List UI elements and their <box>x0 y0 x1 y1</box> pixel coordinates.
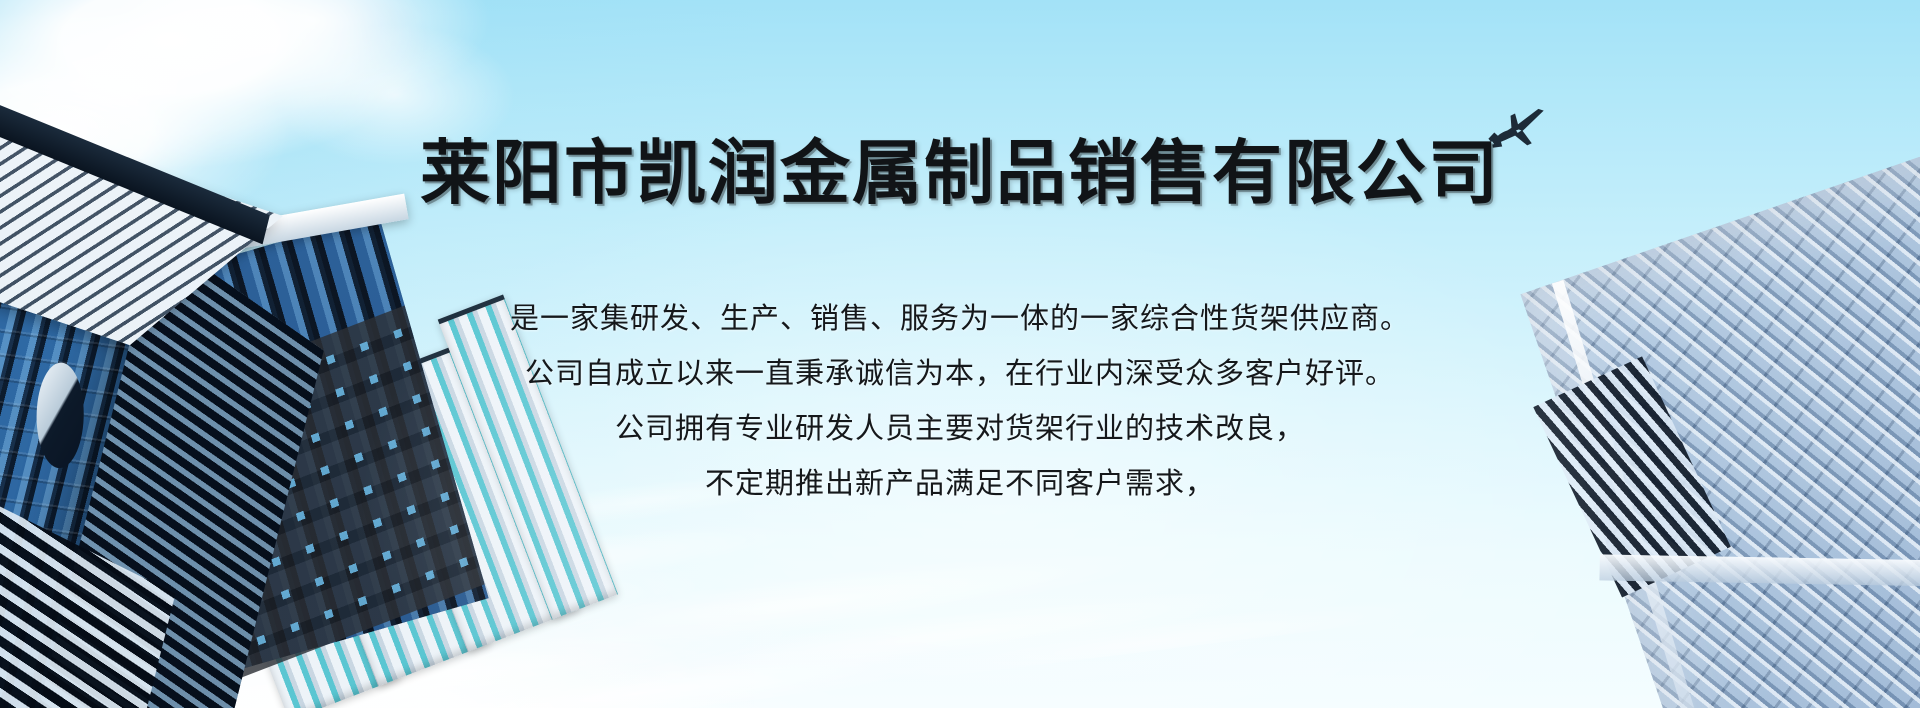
banner-content: 莱阳市凯润金属制品销售有限公司 是一家集研发、生产、销售、服务为一体的一家综合性… <box>0 0 1920 708</box>
company-name-heading: 莱阳市凯润金属制品销售有限公司 <box>420 138 1500 208</box>
description-line: 是一家集研发、生产、销售、服务为一体的一家综合性货架供应商。 <box>510 299 1410 340</box>
hero-banner: 莱阳市凯润金属制品销售有限公司 是一家集研发、生产、销售、服务为一体的一家综合性… <box>0 0 1920 708</box>
description-line: 公司拥有专业研发人员主要对货架行业的技术改良， <box>510 409 1410 450</box>
company-description: 是一家集研发、生产、销售、服务为一体的一家综合性货架供应商。 公司自成立以来一直… <box>510 299 1410 506</box>
description-line: 不定期推出新产品满足不同客户需求， <box>510 464 1410 505</box>
description-line: 公司自成立以来一直秉承诚信为本，在行业内深受众多客户好评。 <box>510 354 1410 395</box>
